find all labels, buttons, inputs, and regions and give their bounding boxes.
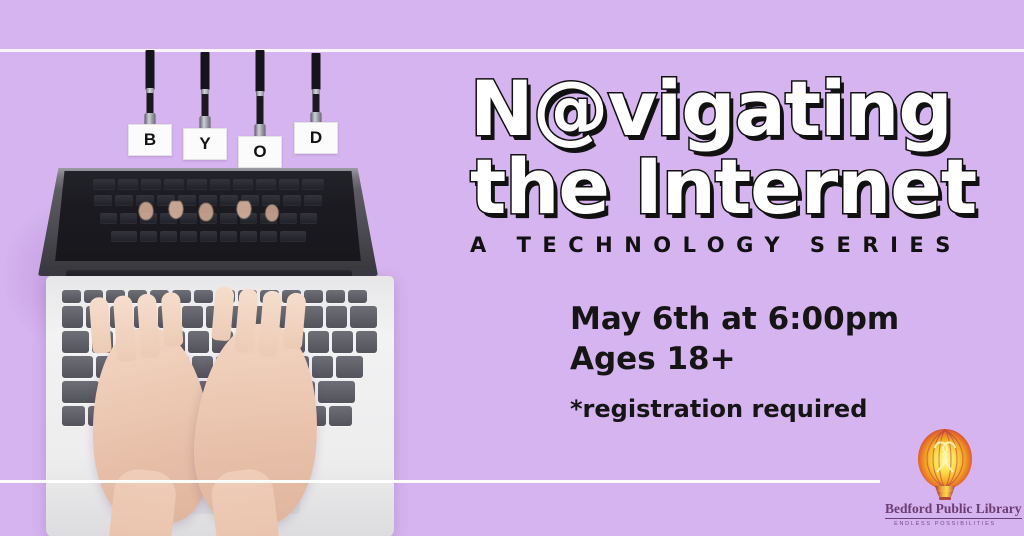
logo-text: Bedford Public Library ENDLESS POSSIBILI… bbox=[885, 500, 1005, 527]
lanyard-strap bbox=[312, 53, 321, 90]
bottom-divider-rule bbox=[0, 480, 880, 483]
lanyard-strap-lower bbox=[147, 93, 154, 115]
lanyard-strap bbox=[256, 50, 265, 92]
library-logo: Bedford Public Library ENDLESS POSSIBILI… bbox=[885, 428, 1005, 532]
lanyard-strap-lower bbox=[313, 94, 320, 114]
lightbulb-icon bbox=[885, 428, 1005, 502]
logo-tagline: ENDLESS POSSIBILITIES bbox=[885, 521, 1005, 527]
laptop-screen-reflection bbox=[52, 171, 364, 261]
lanyard-strap bbox=[146, 50, 155, 90]
title-line-1: N@vigating bbox=[470, 72, 990, 146]
lanyard-strap-lower bbox=[202, 94, 209, 118]
title-block: N@vigating the Internet A TECHNOLOGY SER… bbox=[470, 72, 990, 257]
title-subtitle: A TECHNOLOGY SERIES bbox=[470, 233, 990, 257]
lanyard-strap bbox=[201, 52, 210, 90]
registration-note: *registration required bbox=[570, 395, 990, 423]
reflected-fingers bbox=[132, 201, 302, 227]
event-details: May 6th at 6:00pm Ages 18+ *registration… bbox=[570, 300, 990, 423]
laptop-typing-photo bbox=[0, 140, 420, 536]
title-line-2: the Internet bbox=[470, 150, 990, 224]
event-ages: Ages 18+ bbox=[570, 340, 990, 380]
poster-canvas: B Y O D bbox=[0, 0, 1024, 536]
logo-library-name: Bedford Public Library bbox=[885, 502, 1022, 519]
event-datetime: May 6th at 6:00pm bbox=[570, 300, 990, 340]
lanyard-strap-lower bbox=[257, 96, 264, 126]
